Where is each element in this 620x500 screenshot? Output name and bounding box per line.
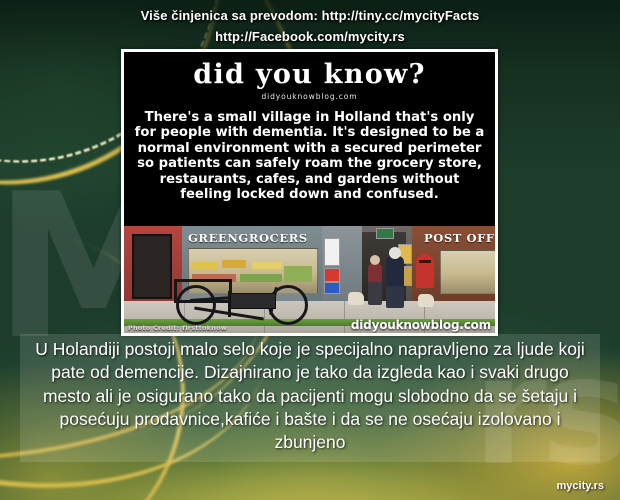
meme-image-frame: did you know? didyouknowblog.com There's… — [121, 49, 498, 336]
meme-image: did you know? didyouknowblog.com There's… — [124, 52, 495, 333]
poster-notice — [324, 238, 340, 266]
translated-caption: U Holandiji postoji malo selo koje je sp… — [20, 334, 600, 462]
meme-body-text: There's a small village in Holland that'… — [124, 110, 495, 203]
dog-statue-icon — [418, 294, 434, 307]
screenshot-root: M rs Više činjenica sa prevodom: http://… — [0, 0, 620, 500]
bicycle-crate — [174, 279, 232, 303]
site-watermark: mycity.rs — [557, 480, 605, 492]
person-visitor — [386, 256, 404, 308]
poster-notice — [324, 282, 340, 294]
pavement-line — [344, 301, 345, 333]
produce-item — [222, 260, 246, 268]
produce-item — [284, 266, 312, 282]
person-head — [389, 247, 401, 259]
produce-item — [192, 262, 218, 269]
street-photo: GREENGROCERS POST OFFICE — [124, 226, 495, 333]
photo-watermark: didyouknowblog.com — [351, 318, 491, 332]
bicycle-basket — [230, 293, 276, 309]
meme-text-panel: did you know? didyouknowblog.com There's… — [124, 52, 495, 226]
post-box-slot-icon — [419, 260, 431, 263]
dog-statue-icon — [348, 292, 364, 305]
facade-doorway-dark — [132, 234, 172, 299]
header-line-facebook-link[interactable]: http://Facebook.com/mycity.rs — [0, 29, 620, 44]
photo-credit: Photo Credit: firsttoknow — [128, 324, 227, 332]
meme-title: did you know? — [124, 52, 495, 88]
produce-item — [252, 262, 282, 269]
bicycle-icon — [172, 285, 310, 325]
header-line-facts-link[interactable]: Više činjenica sa prevodom: http://tiny.… — [0, 8, 620, 23]
green-sign — [376, 228, 394, 239]
post-office-window — [440, 250, 495, 294]
meme-source: didyouknowblog.com — [124, 92, 495, 101]
produce-item — [240, 274, 282, 282]
poster-notice — [324, 268, 340, 282]
person-head — [370, 255, 380, 265]
shop-sign-post-office: POST OFFICE — [424, 231, 495, 245]
shop-sign-greengrocers: GREENGROCERS — [188, 231, 308, 245]
person-elderly — [368, 263, 382, 305]
